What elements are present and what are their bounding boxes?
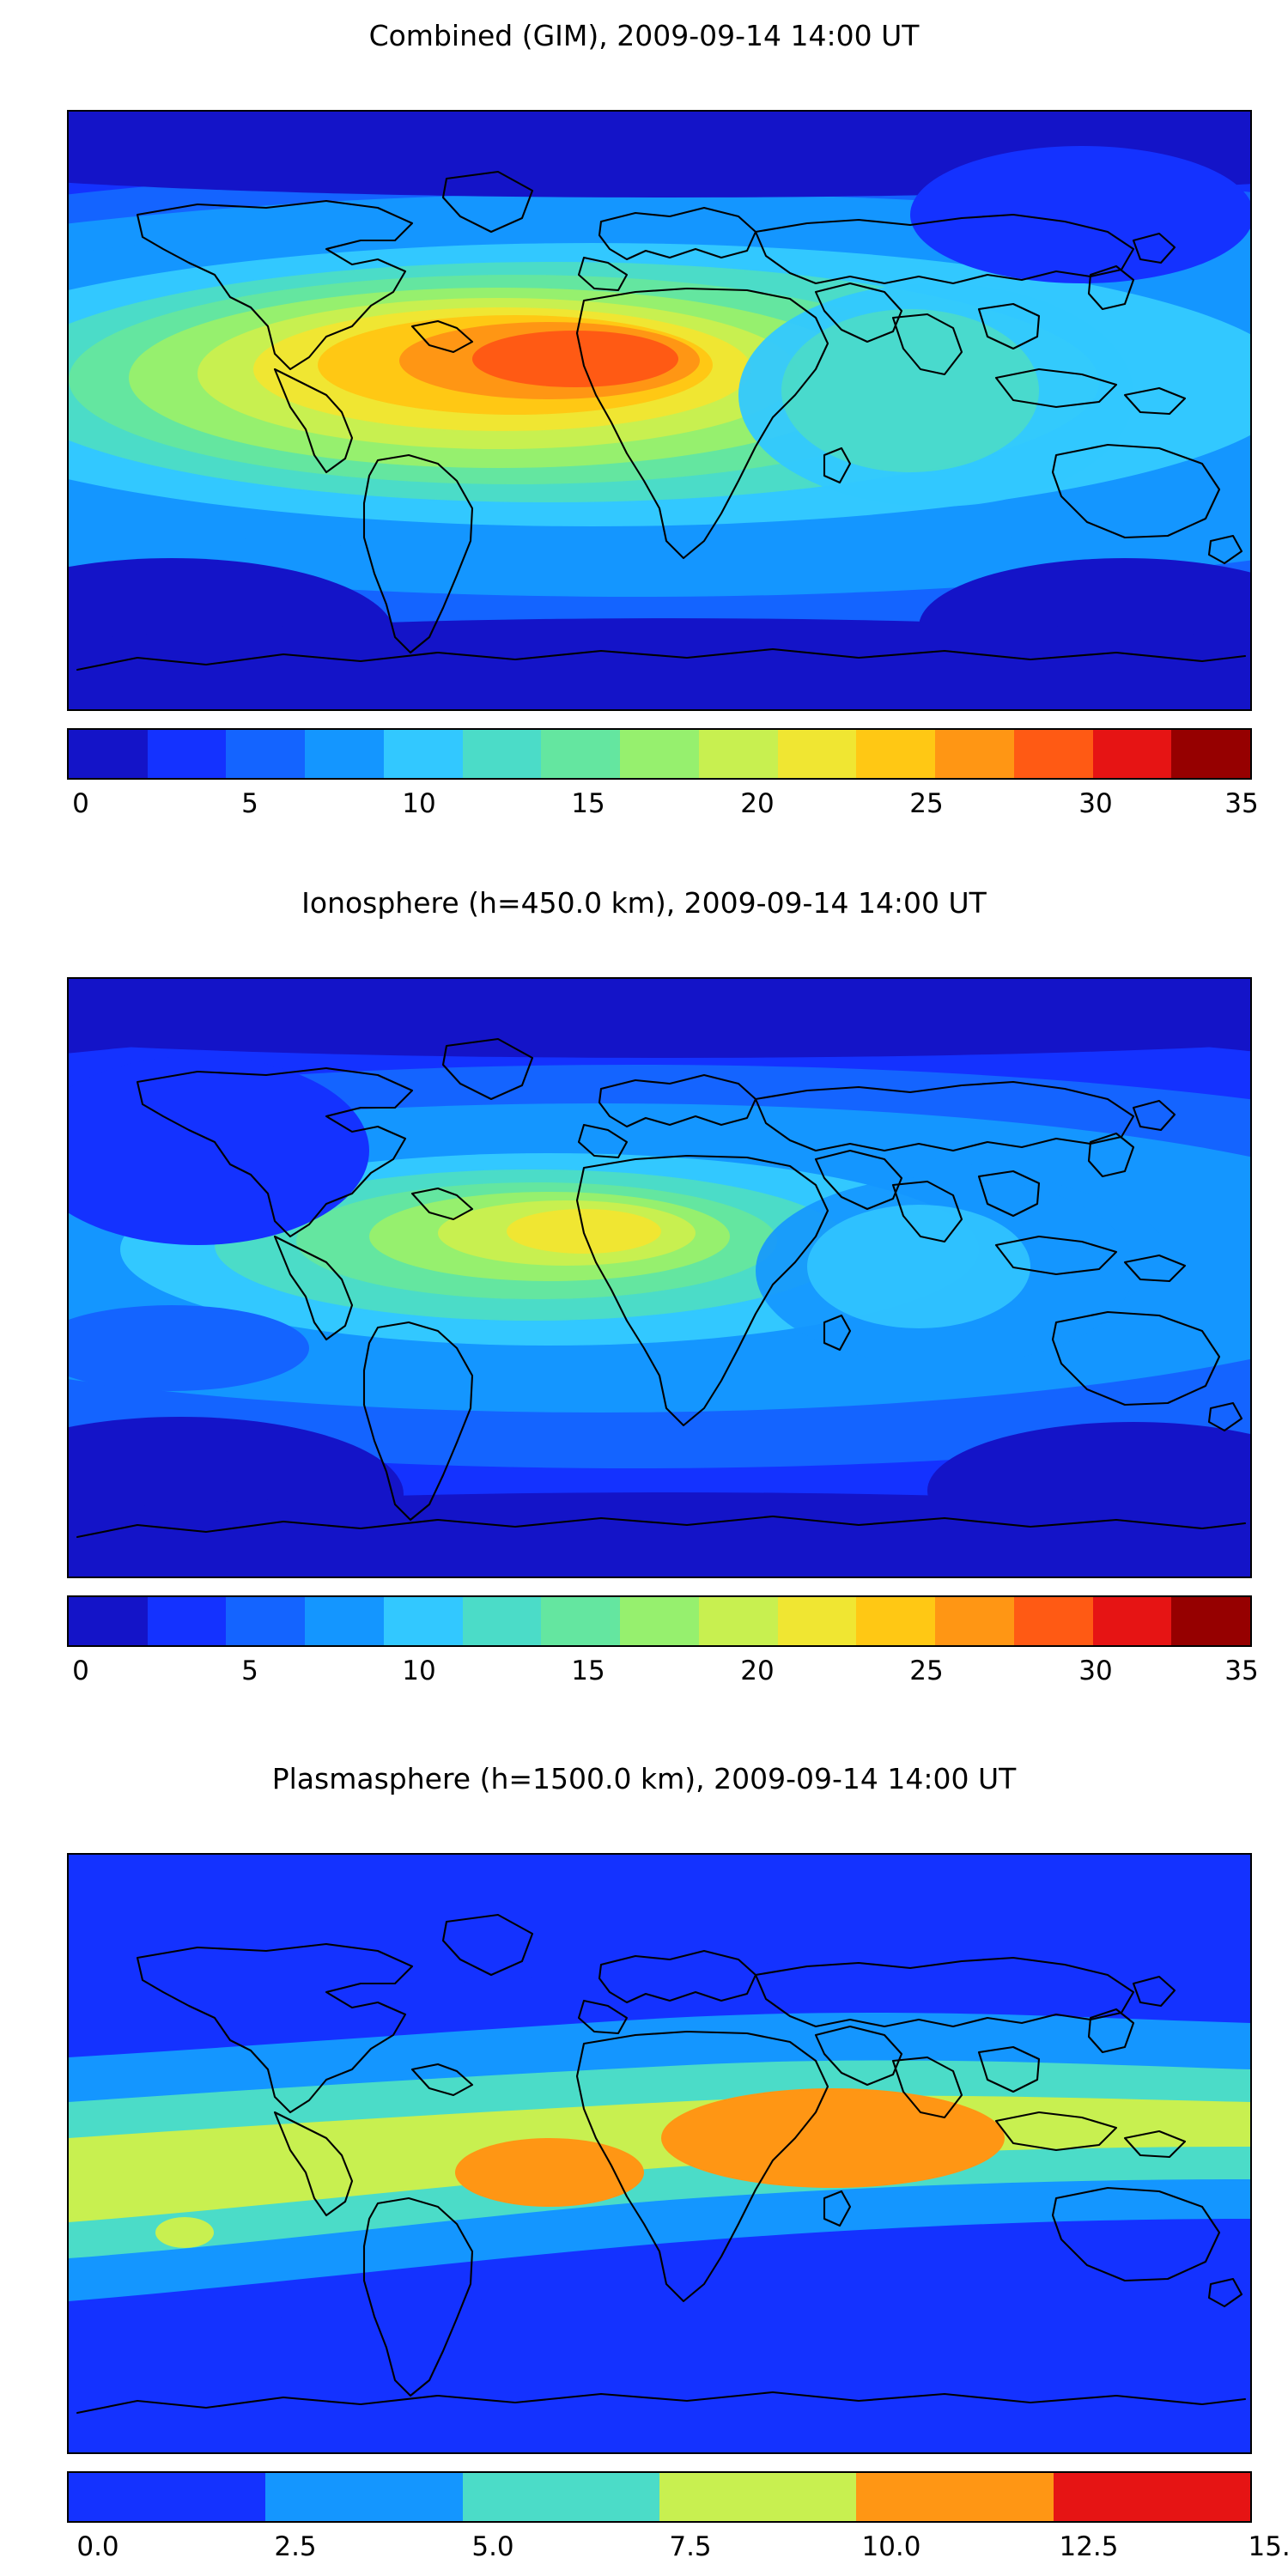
cbar-tick: 10 — [402, 1656, 435, 1686]
cbar-tick: 20 — [740, 788, 774, 819]
cbar-seg — [1171, 730, 1250, 778]
cbar-tick: 5 — [241, 1656, 258, 1686]
cbar-seg — [620, 1597, 699, 1645]
cbar-seg — [384, 730, 463, 778]
cbar-seg — [69, 1597, 148, 1645]
panel-ionosphere: Ionosphere (h=450.0 km), 2009-09-14 14:0… — [0, 867, 1288, 1726]
cbar-tick: 0 — [72, 1656, 89, 1686]
cbar-seg — [778, 1597, 857, 1645]
cbar-tick: 15 — [571, 1656, 605, 1686]
map-plasmasphere — [67, 1853, 1252, 2454]
map-plasmasphere-svg — [69, 1855, 1250, 2452]
cbar-seg — [699, 1597, 778, 1645]
cbar-tick: 2.5 — [274, 2531, 316, 2562]
cbar-tick: 5 — [241, 788, 258, 819]
cbar-tick: 25 — [909, 788, 943, 819]
colorbar-combined: 0 5 10 15 20 25 30 35 — [67, 728, 1252, 831]
panel-title-combined: Combined (GIM), 2009-09-14 14:00 UT — [0, 19, 1288, 53]
colorbar-plasmasphere: 0.0 2.5 5.0 7.5 10.0 12.5 15.0 — [67, 2471, 1252, 2574]
cbar-seg — [1093, 1597, 1172, 1645]
cbar-seg — [265, 2473, 462, 2521]
cbar-tick: 30 — [1078, 788, 1112, 819]
cbar-seg — [1014, 1597, 1093, 1645]
panel-title-plasmasphere: Plasmasphere (h=1500.0 km), 2009-09-14 1… — [0, 1762, 1288, 1796]
colorbar-combined-ticks: 0 5 10 15 20 25 30 35 — [67, 788, 1252, 823]
cbar-seg — [305, 730, 384, 778]
cbar-tick: 15 — [571, 788, 605, 819]
cbar-tick: 12.5 — [1059, 2531, 1118, 2562]
cbar-seg — [541, 730, 620, 778]
cbar-seg — [856, 730, 935, 778]
colorbar-plasmasphere-strip — [67, 2471, 1252, 2523]
map-ionosphere — [67, 977, 1252, 1578]
cbar-seg — [935, 1597, 1014, 1645]
panel-title-ionosphere: Ionosphere (h=450.0 km), 2009-09-14 14:0… — [0, 886, 1288, 920]
cbar-seg — [305, 1597, 384, 1645]
cbar-seg — [148, 1597, 227, 1645]
map-combined-svg — [69, 112, 1250, 709]
colorbar-combined-strip — [67, 728, 1252, 780]
cbar-tick: 10.0 — [861, 2531, 920, 2562]
cbar-seg — [778, 730, 857, 778]
cbar-tick: 10 — [402, 788, 435, 819]
cbar-seg — [463, 2473, 659, 2521]
cbar-seg — [463, 1597, 542, 1645]
colorbar-ionosphere-ticks: 0 5 10 15 20 25 30 35 — [67, 1656, 1252, 1690]
cbar-seg — [1093, 730, 1172, 778]
cbar-tick: 20 — [740, 1656, 774, 1686]
cbar-seg — [384, 1597, 463, 1645]
cbar-seg — [1171, 1597, 1250, 1645]
cbar-tick: 0 — [72, 788, 89, 819]
cbar-tick: 7.5 — [669, 2531, 711, 2562]
cbar-seg — [659, 2473, 856, 2521]
cbar-seg — [69, 730, 148, 778]
map-ionosphere-svg — [69, 979, 1250, 1577]
cbar-seg — [463, 730, 542, 778]
cbar-tick: 5.0 — [471, 2531, 513, 2562]
cbar-seg — [856, 2473, 1053, 2521]
cbar-seg — [541, 1597, 620, 1645]
map-combined — [67, 110, 1252, 711]
cbar-seg — [935, 730, 1014, 778]
cbar-tick: 0.0 — [76, 2531, 118, 2562]
figure-canvas: Combined (GIM), 2009-09-14 14:00 UT — [0, 0, 1288, 2576]
cbar-seg — [69, 2473, 265, 2521]
cbar-seg — [226, 1597, 305, 1645]
cbar-seg — [226, 730, 305, 778]
cbar-tick: 35 — [1224, 1656, 1258, 1686]
cbar-seg — [148, 730, 227, 778]
cbar-tick: 25 — [909, 1656, 943, 1686]
cbar-seg — [1054, 2473, 1250, 2521]
cbar-seg — [856, 1597, 935, 1645]
cbar-seg — [1014, 730, 1093, 778]
colorbar-ionosphere-strip — [67, 1595, 1252, 1647]
cbar-tick: 15.0 — [1248, 2531, 1288, 2562]
panel-combined: Combined (GIM), 2009-09-14 14:00 UT — [0, 0, 1288, 859]
cbar-tick: 35 — [1224, 788, 1258, 819]
cbar-seg — [620, 730, 699, 778]
colorbar-plasmasphere-ticks: 0.0 2.5 5.0 7.5 10.0 12.5 15.0 — [67, 2531, 1252, 2566]
panel-plasmasphere: Plasmasphere (h=1500.0 km), 2009-09-14 1… — [0, 1743, 1288, 2576]
cbar-seg — [699, 730, 778, 778]
colorbar-ionosphere: 0 5 10 15 20 25 30 35 — [67, 1595, 1252, 1698]
cbar-tick: 30 — [1078, 1656, 1112, 1686]
